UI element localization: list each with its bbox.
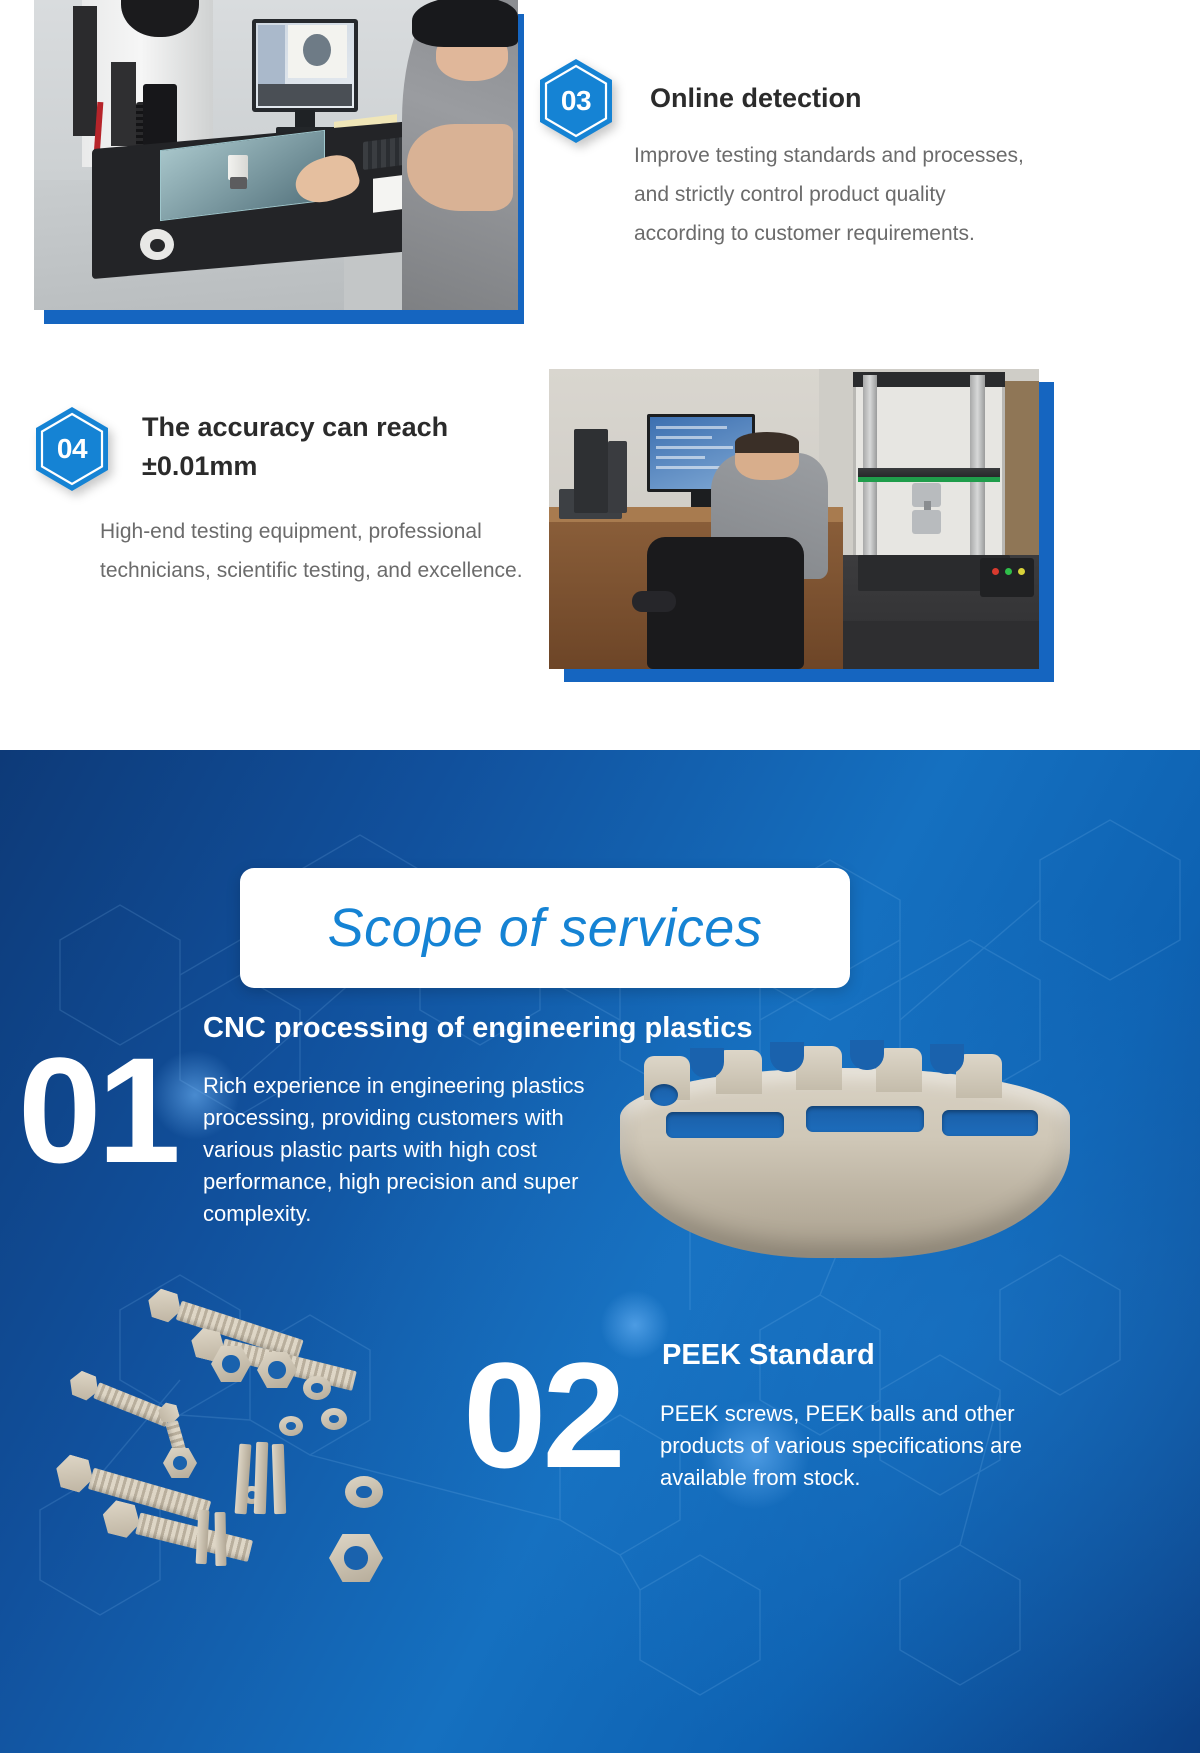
item-body-cnc-processing: Rich experience in engineering plastics … — [203, 1070, 628, 1229]
photo-frame-online-detection — [0, 0, 560, 345]
banner-title: Scope of services — [328, 897, 763, 959]
hexagon-badge-icon-04: 04 — [33, 405, 111, 493]
item-number-02: 02 — [463, 1340, 622, 1490]
feature-title-online-detection: Online detection — [650, 79, 1070, 118]
photo-online-detection — [34, 0, 518, 310]
features-section: 03 Online detection Improve testing stan… — [0, 0, 1200, 850]
badge-number: 04 — [33, 405, 111, 493]
badge-number: 03 — [537, 57, 615, 145]
feature-body-online-detection: Improve testing standards and processes,… — [634, 137, 1034, 254]
scope-of-services-banner: Scope of services — [240, 868, 850, 988]
item-title-peek-standard: PEEK Standard — [662, 1337, 1082, 1375]
product-image-peek-fasteners — [45, 1280, 465, 1580]
photo-tensile-testing-lab — [549, 369, 1039, 669]
feature-title-accuracy: The accuracy can reach ±0.01mm — [142, 408, 542, 486]
feature-body-accuracy: High-end testing equipment, professional… — [100, 513, 540, 591]
item-title-cnc-processing: CNC processing of engineering plastics — [203, 1010, 963, 1048]
photo-frame-accuracy — [540, 360, 1100, 700]
product-image-peek-guide-rail — [620, 1050, 1070, 1280]
hexagon-badge-icon-03: 03 — [537, 57, 615, 145]
item-body-peek-standard: PEEK screws, PEEK balls and other produc… — [660, 1398, 1080, 1494]
item-number-01: 01 — [18, 1035, 177, 1185]
